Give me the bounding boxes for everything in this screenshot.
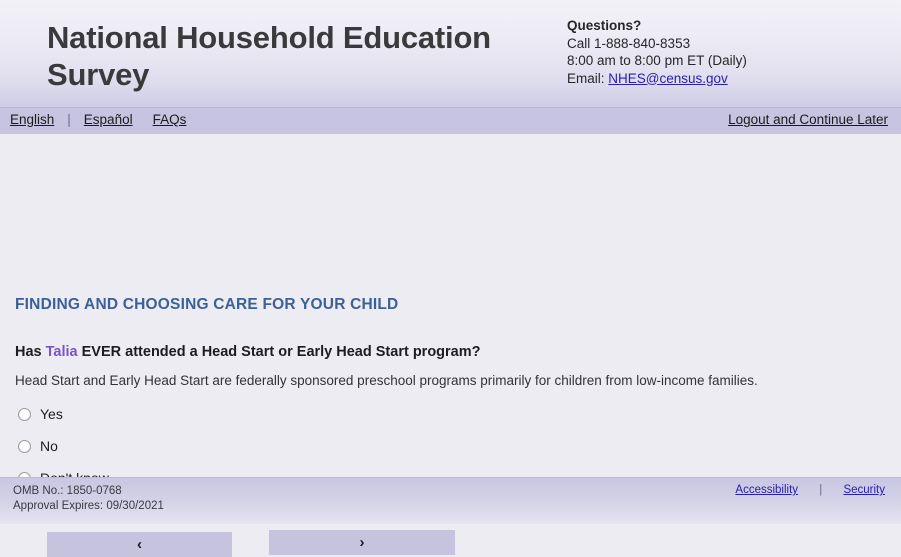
page-header: National Household Education Survey Ques…: [0, 0, 901, 107]
omb-info: OMB No.: 1850-0768 Approval Expires: 09/…: [13, 484, 164, 514]
email-link[interactable]: NHES@census.gov: [608, 71, 728, 86]
contact-info-block: Questions? Call 1-888-840-8353 8:00 am t…: [567, 17, 747, 87]
nav-link-faqs[interactable]: FAQs: [153, 112, 187, 127]
radio-option-label: Yes: [40, 406, 63, 422]
logout-and-continue-later-link[interactable]: Logout and Continue Later: [728, 112, 888, 127]
footer-divider: |: [819, 484, 822, 496]
question-help-text: Head Start and Early Head Start are fede…: [15, 373, 758, 388]
next-button[interactable]: ›: [269, 530, 455, 555]
contact-hours: 8:00 am to 8:00 pm ET (Daily): [567, 52, 747, 70]
back-button[interactable]: ‹: [47, 532, 232, 557]
footer-links: Accessibility | Security: [735, 484, 885, 496]
chevron-right-icon: ›: [360, 535, 365, 550]
radio-option-label: No: [40, 438, 58, 454]
question-prefix: Has: [15, 344, 46, 360]
radio-button-icon[interactable]: [18, 408, 31, 421]
main-content: FINDING AND CHOOSING CARE FOR YOUR CHILD…: [0, 134, 901, 477]
nav-right-group: Logout and Continue Later: [728, 112, 888, 127]
security-link[interactable]: Security: [843, 484, 885, 496]
radio-button-icon[interactable]: [18, 440, 31, 453]
accessibility-link[interactable]: Accessibility: [735, 484, 798, 496]
question-suffix: EVER attended a Head Start or Early Head…: [78, 344, 481, 360]
navigation-bar: English | Español FAQs Logout and Contin…: [0, 107, 901, 134]
questions-heading: Questions?: [567, 17, 747, 35]
contact-phone: Call 1-888-840-8353: [567, 35, 747, 53]
email-label: Email:: [567, 71, 608, 86]
page-title: National Household Education Survey: [47, 19, 547, 93]
page-footer: OMB No.: 1850-0768 Approval Expires: 09/…: [0, 477, 901, 524]
nav-link-espanol[interactable]: Español: [84, 112, 133, 127]
approval-expires: Approval Expires: 09/30/2021: [13, 499, 164, 514]
radio-option-no[interactable]: No: [18, 430, 109, 462]
nav-link-english[interactable]: English: [10, 112, 54, 127]
survey-question: Has Talia EVER attended a Head Start or …: [15, 344, 481, 360]
child-name: Talia: [46, 344, 78, 360]
section-heading: FINDING AND CHOOSING CARE FOR YOUR CHILD: [15, 296, 398, 314]
radio-option-yes[interactable]: Yes: [18, 398, 109, 430]
nav-divider: |: [67, 112, 71, 127]
chevron-left-icon: ‹: [137, 537, 142, 552]
nav-left-group: English | Español FAQs: [10, 112, 186, 127]
contact-email-line: Email: NHES@census.gov: [567, 70, 747, 88]
